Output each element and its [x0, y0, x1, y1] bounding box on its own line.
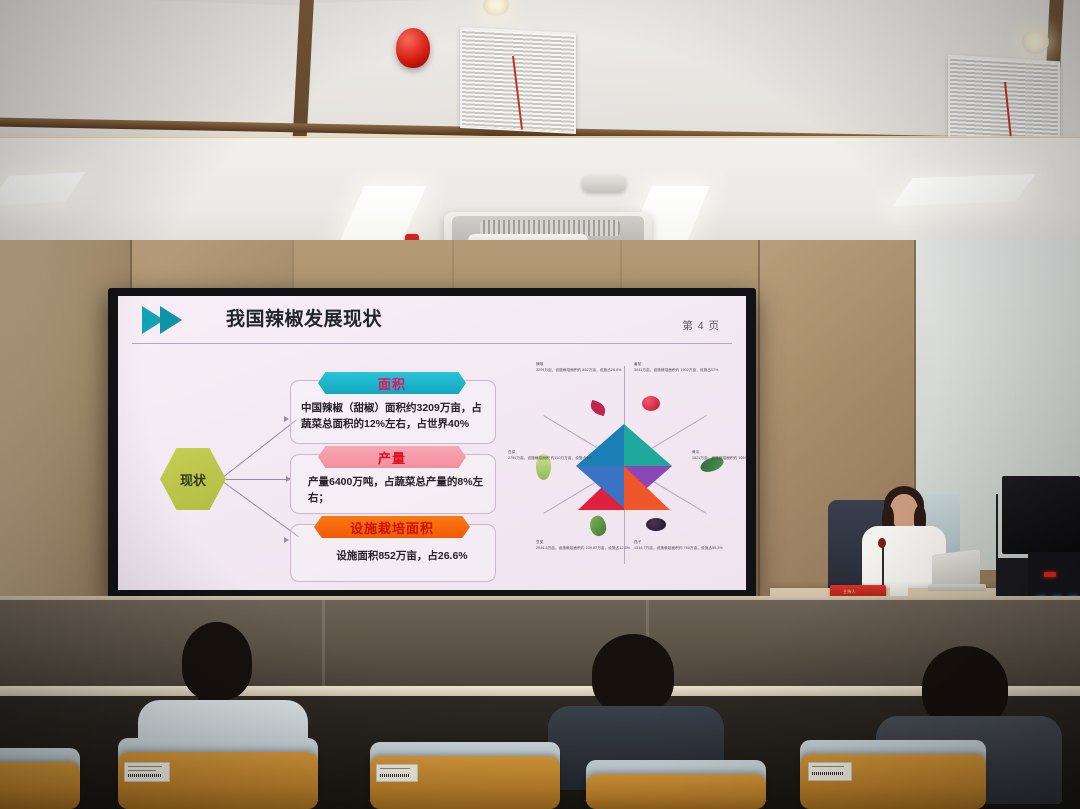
- name-plate-text: 主持人: [843, 589, 856, 595]
- audience-seat[interactable]: [586, 774, 766, 809]
- bean-icon: [587, 514, 610, 539]
- card-body-facility: 设施面积852万亩，占26.6%: [314, 548, 490, 564]
- card-ribbon-facility: 设施栽培面积: [314, 516, 470, 538]
- header-divider: [132, 343, 732, 344]
- card-ribbon-yield: 产量: [318, 446, 466, 468]
- air-vent-icon: [460, 27, 576, 134]
- card-body-area: 中国辣椒（甜椒）面积约3209万亩，占蔬菜总面积的12%左右，占世界40%: [301, 400, 485, 432]
- segment-note: 白菜: [508, 450, 515, 455]
- audience-desk: [0, 600, 1080, 690]
- slide-header: 我国辣椒发展现状 第 4 页: [118, 296, 746, 344]
- segment-note-text: 2794万亩，设施栽培面积 约110万方亩，设施占4%: [508, 456, 592, 461]
- connector-line: [224, 482, 299, 537]
- root-node-hexagon: 现状: [160, 448, 226, 510]
- slide-title: 我国辣椒发展现状: [226, 307, 382, 333]
- slide-content: 我国辣椒发展现状 第 4 页 现状 面积 中国辣椒（甜椒）面积约3209万亩，占…: [118, 296, 746, 590]
- segment-note: 番茄: [634, 362, 641, 367]
- segment-note-text: 2044.3万亩，设施栽培面积约 239.87万亩，设施占12.3%: [536, 546, 630, 551]
- fire-alarm-bell-icon: [396, 28, 430, 68]
- card-body-yield: 产量6400万吨，占蔬菜总产量的8%左右；: [308, 474, 484, 506]
- segment-cabbage: [576, 466, 624, 508]
- status-led-red: [1044, 572, 1056, 577]
- cable: [996, 494, 998, 564]
- segment-note-text: 3041万亩，设施栽培面积约 1502万亩，设施占57%: [634, 368, 718, 373]
- chevron-right-icon: [160, 306, 182, 334]
- segment-note: 辣椒: [536, 362, 543, 367]
- segment-note-text: 1621万亩，设施栽培面积约 1054万亩，设施占67.83%: [692, 456, 746, 461]
- monitor-display[interactable]: [1002, 476, 1080, 554]
- tomato-icon: [642, 396, 660, 411]
- microphone-stand: [882, 544, 884, 588]
- segment-note-text: 1314.7万亩，设施栽培面积约 760万亩，设施占55.3%: [634, 546, 723, 551]
- pinwheel-figure: 辣椒 3209万亩，设施栽培面积约 852万亩，设施占26.6% 番茄 3041…: [514, 358, 736, 570]
- segment-note: 黄瓜: [692, 450, 699, 455]
- connector-line: [224, 419, 297, 476]
- ceiling: [0, 0, 1080, 248]
- seat-asset-tag: [376, 764, 418, 782]
- arrow-head-icon: [284, 537, 289, 543]
- recessed-downlight-icon: [1022, 30, 1049, 54]
- desk-seam: [322, 600, 325, 690]
- led-panel-light: [892, 174, 1035, 206]
- audience-seat[interactable]: [0, 762, 80, 809]
- connector-line: [226, 479, 288, 480]
- projection-screen[interactable]: 我国辣椒发展现状 第 4 页 现状 面积 中国辣椒（甜椒）面积约3209万亩，占…: [108, 288, 756, 598]
- eggplant-icon: [646, 518, 666, 531]
- microphone-icon: [878, 538, 886, 548]
- segment-eggplant: [624, 466, 670, 510]
- slide-page-number: 第 4 页: [682, 318, 720, 333]
- laptop-base[interactable]: [928, 584, 986, 591]
- chili-pepper-icon: [589, 400, 608, 416]
- segment-note-text: 3209万亩，设施栽培面积约 852万亩，设施占26.6%: [536, 368, 622, 373]
- segment-note: 豆类: [536, 540, 543, 545]
- segment-note: 茄子: [634, 540, 641, 545]
- smoke-detector-icon: [582, 175, 626, 192]
- card-ribbon-area: 面积: [318, 372, 466, 394]
- segment-tomato: [624, 424, 672, 466]
- arrow-head-icon: [284, 416, 289, 422]
- seat-asset-tag: [124, 762, 170, 782]
- conference-room-photo: 我国辣椒发展现状 第 4 页 现状 面积 中国辣椒（甜椒）面积约3209万亩，占…: [0, 0, 1080, 809]
